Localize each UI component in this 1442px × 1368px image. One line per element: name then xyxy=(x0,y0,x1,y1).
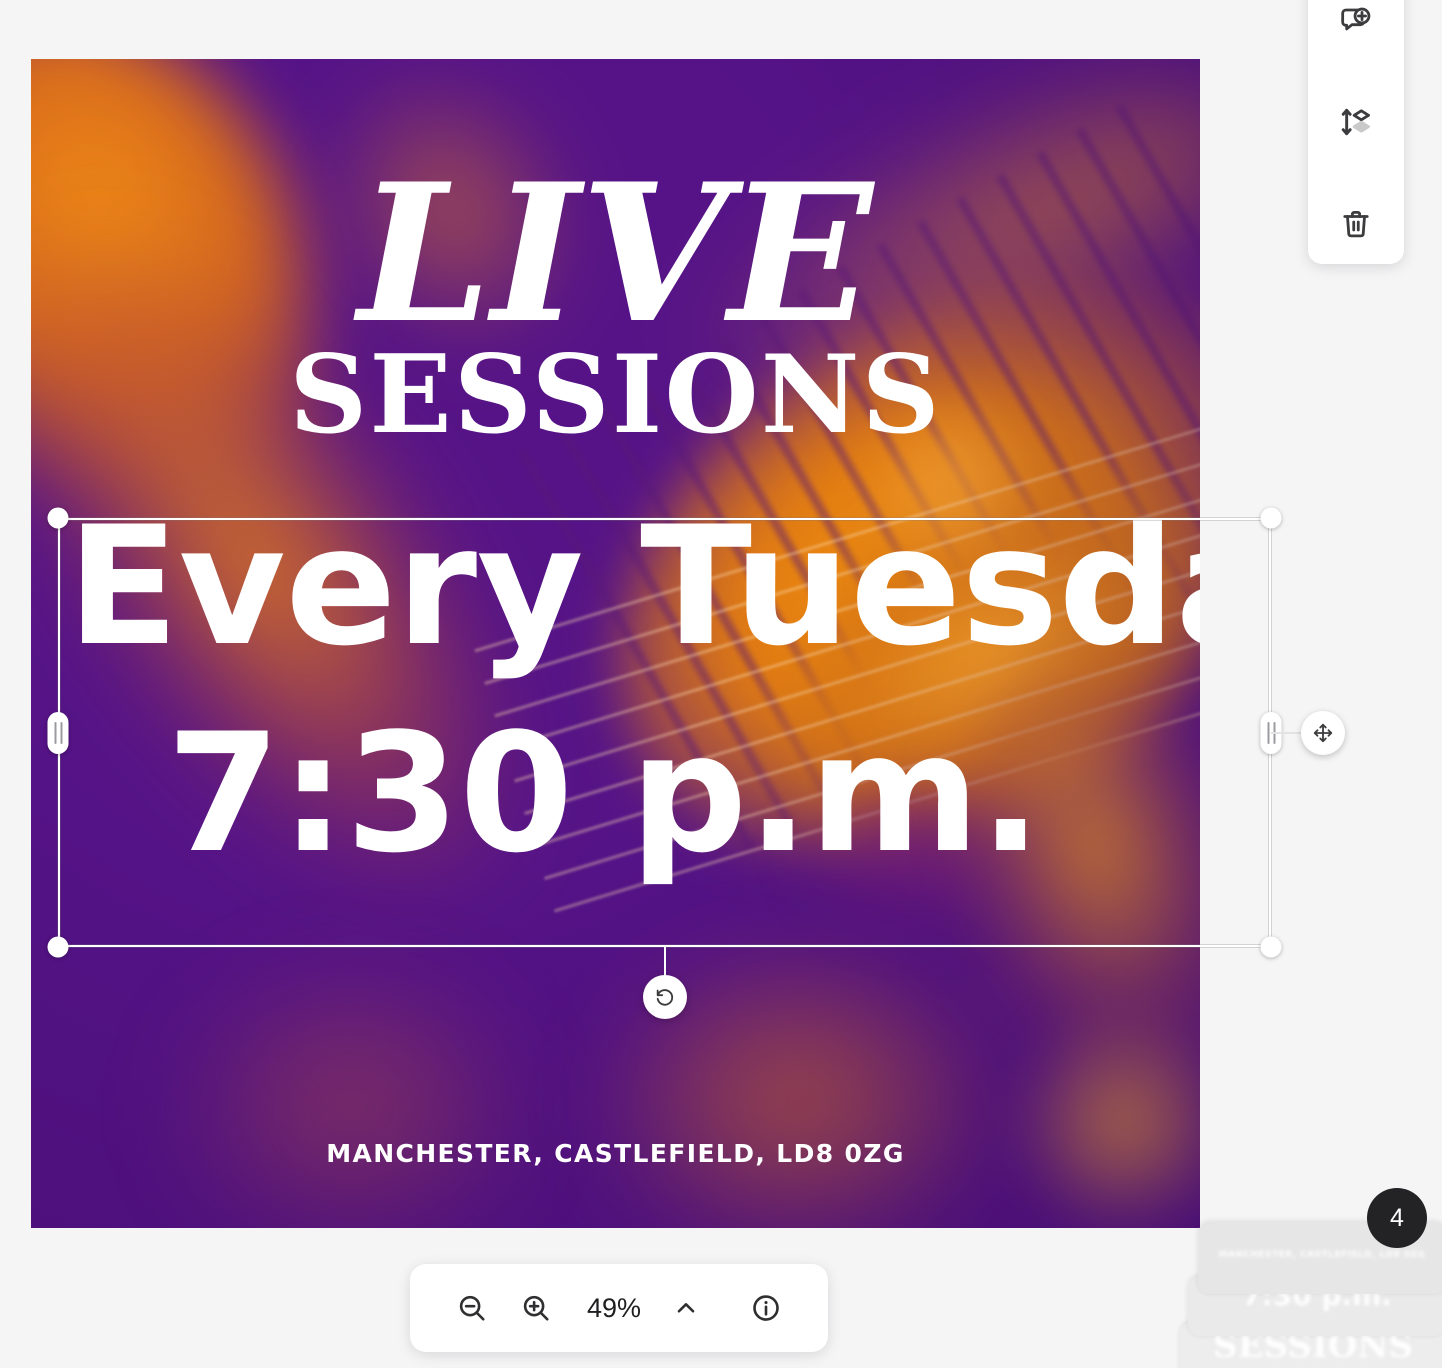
zoom-toolbar: 49% xyxy=(410,1264,828,1352)
comment-plus-icon xyxy=(1340,4,1372,36)
selected-text-line-2: 7:30 p.m. xyxy=(59,714,1200,873)
page-thumbnail-label: MANCHESTER, CASTLEFIELD, LD8 0ZG xyxy=(1219,1250,1426,1260)
delete-button[interactable] xyxy=(1332,200,1380,248)
selected-text-element[interactable]: Every Tuesday 7:30 p.m. xyxy=(59,507,1200,873)
resize-handle-top-right[interactable] xyxy=(1261,508,1282,529)
trash-icon xyxy=(1340,208,1372,240)
zoom-expand-button[interactable] xyxy=(663,1285,709,1331)
headline-line-1: LIVE xyxy=(31,178,1200,330)
zoom-in-icon xyxy=(521,1293,551,1323)
reorder-layers-button[interactable] xyxy=(1332,98,1380,146)
selection-edge-right xyxy=(1269,518,1271,947)
zoom-in-button[interactable] xyxy=(507,1279,565,1337)
design-canvas[interactable]: LIVE SESSIONS Every Tuesday 7:30 p.m. MA… xyxy=(31,59,1200,1228)
selected-text-line-1: Every Tuesday xyxy=(59,507,1200,666)
add-comment-button[interactable] xyxy=(1332,0,1380,44)
grip-line xyxy=(1267,722,1269,744)
resize-handle-right[interactable] xyxy=(1261,712,1282,754)
chevron-up-icon xyxy=(673,1295,699,1321)
zoom-out-icon xyxy=(457,1293,487,1323)
move-handle-stem xyxy=(1271,732,1301,734)
move-arrows-icon xyxy=(1312,722,1334,744)
layers-reorder-icon xyxy=(1340,106,1372,138)
zoom-out-button[interactable] xyxy=(443,1279,501,1337)
rotate-ccw-icon xyxy=(654,986,676,1008)
design-editor-canvas-area: LIVE SESSIONS Every Tuesday 7:30 p.m. MA… xyxy=(0,0,1442,1368)
poster-artboard[interactable]: LIVE SESSIONS Every Tuesday 7:30 p.m. MA… xyxy=(31,59,1200,1228)
resize-handle-bottom-right[interactable] xyxy=(1261,937,1282,958)
poster-headline[interactable]: LIVE SESSIONS xyxy=(31,178,1200,438)
pages-stack-panel[interactable]: 4 MANCHESTER, CASTLEFIELD, LD8 0ZG 7:30 … xyxy=(1180,1222,1442,1368)
info-icon xyxy=(751,1293,781,1323)
grip-line xyxy=(1273,722,1275,744)
info-button[interactable] xyxy=(737,1279,795,1337)
pages-count-badge[interactable]: 4 xyxy=(1367,1188,1427,1248)
zoom-level-value[interactable]: 49% xyxy=(571,1293,657,1324)
move-handle-button[interactable] xyxy=(1301,711,1345,755)
headline-line-2: SESSIONS xyxy=(31,352,1200,438)
rotate-handle-button[interactable] xyxy=(643,975,687,1019)
poster-venue-text[interactable]: MANCHESTER, CASTLEFIELD, LD8 0ZG xyxy=(31,1139,1200,1168)
element-context-toolbar xyxy=(1308,0,1404,264)
